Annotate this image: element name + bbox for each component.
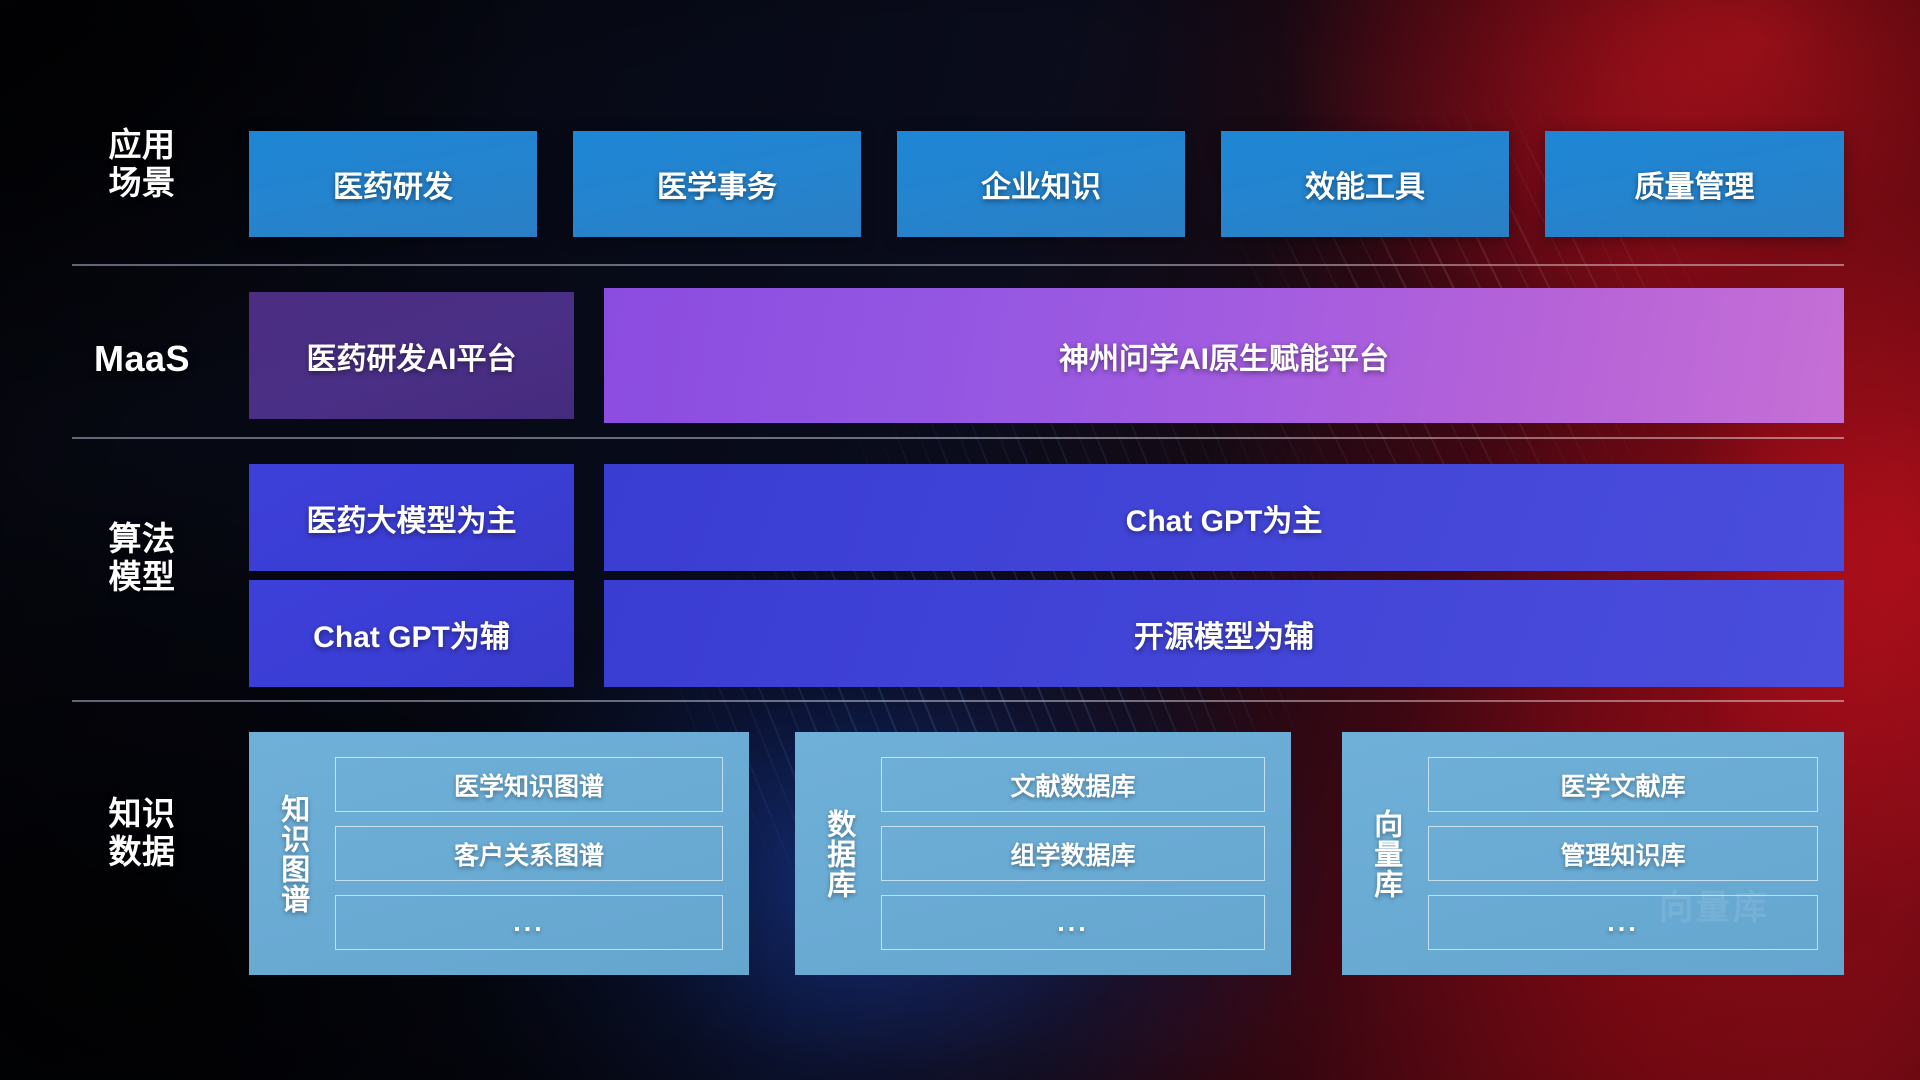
tier-label-application: 应用 场景 (72, 126, 212, 201)
tier-label-line: 应用 (72, 126, 212, 164)
knowledge-panel-database[interactable]: 数据库 文献数据库 组学数据库 ... (795, 732, 1291, 975)
knowledge-panel-vector[interactable]: 向量库 医学文献库 管理知识库 ... (1342, 732, 1844, 975)
app-box-4[interactable]: 效能工具 (1221, 131, 1509, 237)
knowledge-panel-graph[interactable]: 知识图谱 医学知识图谱 客户关系图谱 ... (249, 732, 749, 975)
list-item[interactable]: ... (881, 895, 1265, 950)
panel-title-database: 数据库 (795, 732, 881, 975)
tier-label-algorithm: 算法 模型 (72, 520, 212, 595)
app-box-3[interactable]: 企业知识 (897, 131, 1185, 237)
model-box-opensource-secondary[interactable]: 开源模型为辅 (604, 580, 1844, 687)
app-box-5[interactable]: 质量管理 (1545, 131, 1844, 237)
panel-items-vector: 医学文献库 管理知识库 ... (1428, 732, 1844, 975)
list-item[interactable]: 客户关系图谱 (335, 826, 723, 881)
divider-1 (72, 264, 1844, 266)
divider-3 (72, 700, 1844, 702)
divider-2 (72, 437, 1844, 439)
tier-label-line: 数据 (72, 833, 212, 871)
list-item[interactable]: 管理知识库 (1428, 826, 1818, 881)
tier-label-line: 知识 (72, 795, 212, 833)
model-box-pharma-primary[interactable]: 医药大模型为主 (249, 464, 574, 571)
model-box-chatgpt-secondary[interactable]: Chat GPT为辅 (249, 580, 574, 687)
list-item[interactable]: ... (335, 895, 723, 950)
maas-box-platform-shenzhou[interactable]: 神州问学AI原生赋能平台 (604, 288, 1844, 423)
tier-label-line: 场景 (72, 164, 212, 202)
model-box-chatgpt-primary[interactable]: Chat GPT为主 (604, 464, 1844, 571)
panel-title-vector: 向量库 (1342, 732, 1428, 975)
tier-label-line: 算法 (72, 520, 212, 558)
tier-label-line: MaaS (72, 338, 212, 379)
list-item[interactable]: 文献数据库 (881, 757, 1265, 812)
panel-items-database: 文献数据库 组学数据库 ... (881, 732, 1291, 975)
panel-title-graph: 知识图谱 (249, 732, 335, 975)
tier-label-knowledge: 知识 数据 (72, 795, 212, 870)
list-item[interactable]: 组学数据库 (881, 826, 1265, 881)
maas-box-platform-pharma[interactable]: 医药研发AI平台 (249, 292, 574, 419)
tier-label-line: 模型 (72, 558, 212, 596)
app-box-2[interactable]: 医学事务 (573, 131, 861, 237)
app-box-1[interactable]: 医药研发 (249, 131, 537, 237)
list-item[interactable]: 医学知识图谱 (335, 757, 723, 812)
panel-items-graph: 医学知识图谱 客户关系图谱 ... (335, 732, 749, 975)
diagram-canvas: 应用 场景 医药研发 医学事务 企业知识 效能工具 质量管理 MaaS 医药研发… (0, 0, 1920, 1080)
tier-label-maas: MaaS (72, 338, 212, 379)
list-item[interactable]: ... (1428, 895, 1818, 950)
list-item[interactable]: 医学文献库 (1428, 757, 1818, 812)
